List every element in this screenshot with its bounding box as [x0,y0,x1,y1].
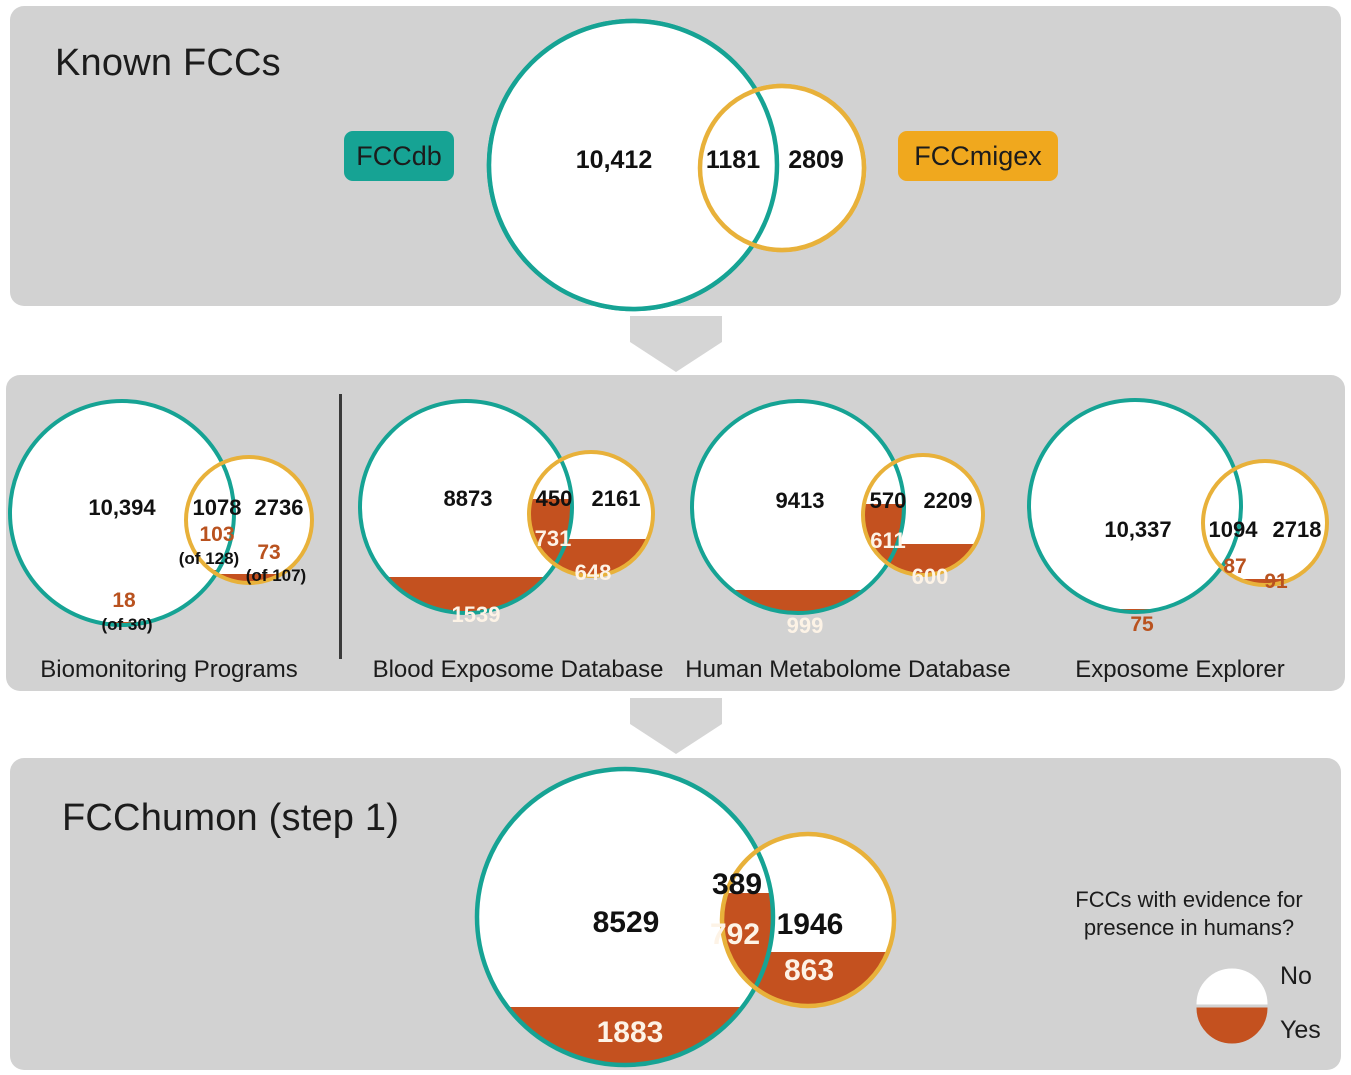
label-right-only: 2736 [255,495,304,520]
label-right-yes: 91 [1264,570,1288,593]
label-left-yes: 75 [1130,613,1154,636]
label-left-yes: 18 [112,589,136,612]
label-intersection-yes: 611 [870,528,906,553]
label-intersection: 450 [536,486,573,511]
label-left-only: 10,337 [1104,517,1171,542]
label-intersection-yes: 792 [710,918,760,951]
venn-diagram-human-metabolome-database: 9413 570 2209 611 600 999 [683,396,1013,641]
label-intersection: 389 [712,868,762,901]
label-right-only: 2718 [1273,517,1322,542]
legend-half-yes [1197,1008,1267,1043]
label-intersection-yes: 103 [199,523,234,546]
panel-divider [339,394,342,659]
venn-diagram-exposome-explorer: 10,337 1094 2718 87 91 75 [1025,396,1345,641]
label-intersection: 570 [870,488,907,513]
caption-blood-exposome-database: Blood Exposome Database [348,656,688,684]
label-left-only: 8873 [444,486,493,511]
legend-label-yes: Yes [1280,1016,1321,1045]
left-yes-fill-group [358,577,678,647]
legend-title-line2: presence in humans? [1039,914,1339,942]
page-title-fcchumon: FCChumon (step 1) [62,797,399,840]
label-right-yes-of: (of 107) [246,566,306,585]
label-left-only: 10,412 [576,146,652,174]
label-left-yes: 1883 [597,1016,664,1049]
label-intersection: 1094 [1209,517,1259,542]
legend-title: FCCs with evidence for presence in human… [1039,886,1339,942]
label-left-yes: 999 [787,613,824,638]
venn-diagram-biomonitoring-programs: 10,394 1078 2736 103 (of 128) 73 (of 107… [4,394,334,644]
venn-diagram-known-fccs: 10,412 1181 2809 [480,10,880,310]
badge-fccdb: FCCdb [344,131,454,181]
page-title-known-fccs: Known FCCs [55,42,281,85]
label-intersection-yes-of: (of 128) [179,549,239,568]
label-left-only: 8529 [593,906,660,939]
legend-half-no [1197,969,1267,1004]
venn-diagram-blood-exposome-database: 8873 450 2161 731 648 1539 [358,396,678,641]
caption-biomonitoring-programs: Biomonitoring Programs [4,656,334,684]
legend-title-line1: FCCs with evidence for [1039,886,1339,914]
label-intersection: 1078 [193,495,242,520]
label-right-yes: 600 [912,564,949,589]
label-intersection-yes: 731 [535,526,572,551]
label-left-yes: 1539 [452,602,501,627]
label-right-only: 2209 [924,488,973,513]
label-right-only: 1946 [777,908,844,941]
label-left-only: 10,394 [88,495,156,520]
label-left-only: 9413 [776,488,825,513]
label-right-only: 2161 [592,486,641,511]
badge-fccmigex: FCCmigex [898,131,1058,181]
caption-exposome-explorer: Exposome Explorer [1015,656,1345,684]
label-left-yes-of: (of 30) [102,615,153,634]
caption-human-metabolome-database: Human Metabolome Database [673,656,1023,684]
legend-swatch [1192,952,1272,1056]
legend-label-no: No [1280,962,1312,991]
label-right-only: 2809 [788,146,844,174]
label-right-yes: 73 [257,541,280,564]
venn-diagram-fcchumon-step1: 8529 389 1946 792 863 1883 [443,762,923,1074]
left-yes-fill-group [1025,609,1345,629]
label-right-yes: 863 [784,954,834,987]
label-right-yes: 648 [575,560,612,585]
label-intersection-yes: 87 [1223,555,1246,578]
label-intersection: 1181 [706,146,760,174]
